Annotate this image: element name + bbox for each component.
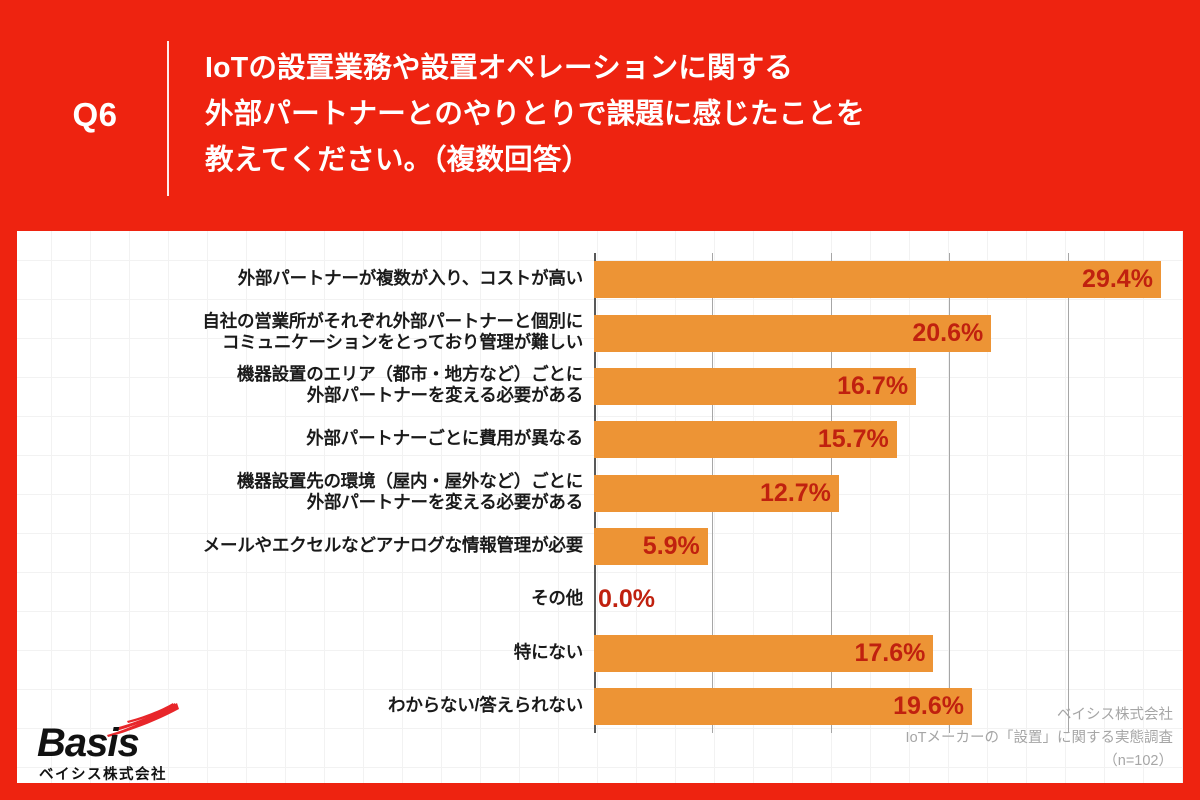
category-label-line: 機器設置のエリア（都市・地方など）ごとに <box>23 364 583 385</box>
bar-value-label: 17.6% <box>855 635 926 672</box>
title-line-3: 教えてください。（複数回答） <box>205 137 1165 183</box>
bar-row[interactable]: 17.6% <box>594 635 1183 672</box>
credit-sample-size: （n=102） <box>733 750 1173 773</box>
question-number: Q6 <box>40 96 150 134</box>
page-title: IoTの設置業務や設置オペレーションに関する 外部パートナーとのやりとりで課題に… <box>205 45 1165 183</box>
category-label: 機器設置先の環境（屋内・屋外など）ごとに外部パートナーを変える必要がある <box>23 471 583 513</box>
bar-row[interactable]: 5.9% <box>594 528 1183 565</box>
bar-row[interactable]: 0.0% <box>594 581 1183 618</box>
bar-row[interactable]: 15.7% <box>594 421 1183 458</box>
bar-row[interactable]: 12.7% <box>594 475 1183 512</box>
category-label-line: 外部パートナーが複数が入り、コストが高い <box>23 268 583 289</box>
bar-value-label: 12.7% <box>760 475 831 512</box>
category-label-line: 特にない <box>23 642 583 663</box>
credit-survey: IoTメーカーの「設置」に関する実態調査 <box>733 727 1173 750</box>
category-label-line: その他 <box>23 588 583 609</box>
category-label: その他 <box>23 588 583 609</box>
bar-row[interactable]: 29.4% <box>594 261 1183 298</box>
category-label: 外部パートナーが複数が入り、コストが高い <box>23 268 583 289</box>
category-label: メールやエクセルなどアナログな情報管理が必要 <box>23 535 583 556</box>
logo-company-name: ベイシス株式会社 <box>39 763 167 783</box>
category-label-line: 外部パートナーごとに費用が異なる <box>23 428 583 449</box>
category-label-line: メールやエクセルなどアナログな情報管理が必要 <box>23 535 583 556</box>
bar-value-label: 29.4% <box>1082 261 1153 298</box>
category-label: 特にない <box>23 642 583 663</box>
bar-value-label: 16.7% <box>837 368 908 405</box>
category-label: 自社の営業所がそれぞれ外部パートナーと個別にコミュニケーションをとっており管理が… <box>23 311 583 353</box>
header-divider <box>167 41 169 196</box>
category-label: 外部パートナーごとに費用が異なる <box>23 428 583 449</box>
bar-chart-plot: 29.4%20.6%16.7%15.7%12.7%5.9%0.0%17.6%19… <box>594 253 1183 733</box>
header-banner: Q6 IoTの設置業務や設置オペレーションに関する 外部パートナーとのやりとりで… <box>0 0 1200 231</box>
bar-value-label: 20.6% <box>912 315 983 352</box>
title-line-2: 外部パートナーとのやりとりで課題に感じたことを <box>205 91 1165 137</box>
category-label-line: 自社の営業所がそれぞれ外部パートナーと個別に <box>23 311 583 332</box>
chart-panel: 外部パートナーが複数が入り、コストが高い自社の営業所がそれぞれ外部パートナーと個… <box>17 231 1183 783</box>
credit-company: ベイシス株式会社 <box>733 704 1173 727</box>
bar-row[interactable]: 16.7% <box>594 368 1183 405</box>
logo-wordmark: Basis <box>37 721 139 766</box>
infographic-slide: Q6 IoTの設置業務や設置オペレーションに関する 外部パートナーとのやりとりで… <box>0 0 1200 800</box>
category-label: 機器設置のエリア（都市・地方など）ごとに外部パートナーを変える必要がある <box>23 364 583 406</box>
category-axis-labels: 外部パートナーが複数が入り、コストが高い自社の営業所がそれぞれ外部パートナーと個… <box>17 253 583 733</box>
bar-value-label: 15.7% <box>818 421 889 458</box>
category-label-line: コミュニケーションをとっており管理が難しい <box>23 332 583 353</box>
bar-value-label: 5.9% <box>643 528 700 565</box>
category-label-line: 外部パートナーを変える必要がある <box>23 492 583 513</box>
bar-row[interactable]: 20.6% <box>594 315 1183 352</box>
bar[interactable] <box>594 261 1161 298</box>
basis-logo: Basis ベイシス株式会社 <box>25 702 185 782</box>
bar-value-label: 0.0% <box>598 581 655 618</box>
category-label-line: 機器設置先の環境（屋内・屋外など）ごとに <box>23 471 583 492</box>
title-line-1: IoTの設置業務や設置オペレーションに関する <box>205 45 1165 91</box>
category-label-line: 外部パートナーを変える必要がある <box>23 385 583 406</box>
source-credits: ベイシス株式会社 IoTメーカーの「設置」に関する実態調査 （n=102） <box>733 704 1173 773</box>
